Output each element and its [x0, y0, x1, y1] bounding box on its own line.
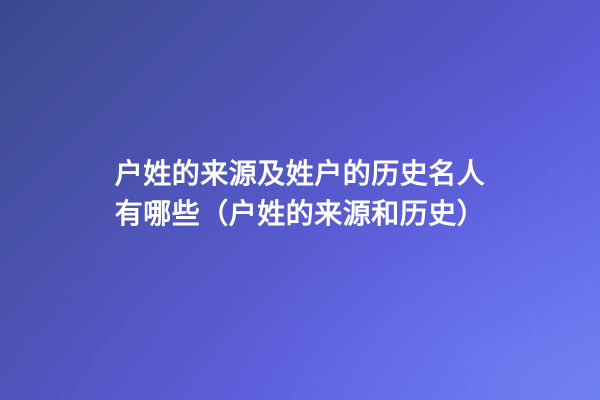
banner-title-line-1: 户姓的来源及姓户的历史名人 — [115, 154, 486, 194]
banner-title-block: 户姓的来源及姓户的历史名人 有哪些（户姓的来源和历史） — [0, 154, 600, 234]
banner-title-line-2: 有哪些（户姓的来源和历史） — [115, 194, 486, 234]
article-title-banner: 户姓的来源及姓户的历史名人 有哪些（户姓的来源和历史） — [0, 0, 600, 400]
background-gradient-sheen — [0, 0, 600, 400]
